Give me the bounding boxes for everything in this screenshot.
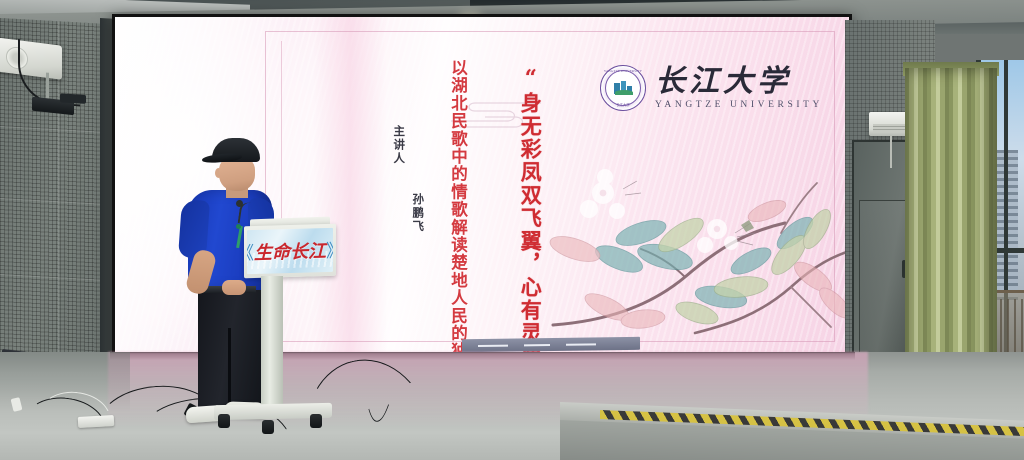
university-seal-icon: YANGTZE UNIVERSITY 长江大学 [600, 65, 646, 111]
banner-close-bracket: 》 [326, 240, 333, 262]
university-name-cn: 长江大学 [655, 67, 823, 97]
banner-open-bracket: 《 [247, 243, 254, 265]
seal-text-bottom: 长江大学 [601, 102, 645, 107]
cable-tray [60, 93, 86, 103]
soundbar-led [478, 345, 508, 347]
window-curtain[interactable] [905, 68, 997, 388]
lapel-mic-icon [236, 224, 241, 229]
university-name-en: YANGTZE UNIVERSITY [655, 100, 823, 110]
microphone-icon [236, 200, 243, 207]
soundbar-led [566, 343, 596, 345]
podium-banner-text: 《生命长江》 [247, 236, 333, 265]
podium-stem [261, 276, 283, 409]
soundbar [462, 337, 640, 352]
speaker-legs [198, 284, 268, 414]
slide-quote: “身无彩凤双飞翼，心有灵犀一点通” [519, 65, 541, 358]
podium-caster [262, 420, 274, 434]
podium-banner: 《生命长江》 [247, 228, 333, 274]
slide-subtitle: 以湖北民歌中的情歌解读楚地人民的独特浪漫 [449, 59, 466, 358]
banner-title: 生命长江 [254, 241, 326, 264]
podium-caster [310, 414, 322, 428]
host-label: 主讲人 [393, 125, 405, 166]
power-strip[interactable] [78, 415, 115, 428]
leg-separation [228, 328, 231, 412]
floral-branch-illustration [545, 137, 849, 352]
door-panel [859, 200, 907, 364]
soundbar-led [524, 344, 550, 346]
lecture-hall-scene: YANGTZE UNIVERSITY 长江大学 长江大学 YANGTZE UNI… [0, 0, 1024, 460]
host-name: 孙鹏飞 [412, 193, 424, 234]
speaker-hand-left [222, 280, 246, 295]
ac-vent [873, 124, 909, 132]
seal-text-top: YANGTZE UNIVERSITY [601, 69, 645, 73]
podium-front-panel: 《生命长江》 [244, 224, 336, 279]
ac-pipe [890, 136, 892, 168]
university-logo-lockup: YANGTZE UNIVERSITY 长江大学 长江大学 YANGTZE UNI… [600, 65, 823, 111]
seal-building-motif [612, 81, 634, 94]
podium-caster [218, 414, 230, 428]
